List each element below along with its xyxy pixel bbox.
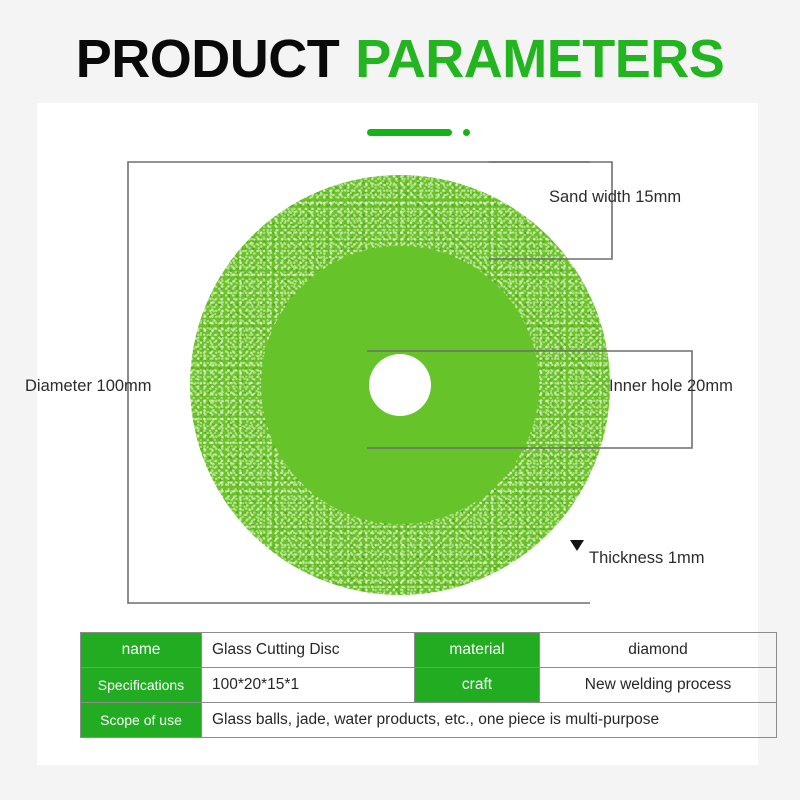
callout-inner-hole: Inner hole 20mm	[609, 377, 733, 396]
divider-bar-icon	[367, 129, 452, 136]
cell-craft-label: craft	[415, 668, 540, 703]
content-card: Sand width 15mm Inner hole 20mm Thicknes…	[37, 103, 758, 765]
table-row: Scope of use Glass balls, jade, water pr…	[81, 703, 777, 738]
page-title-primary: PRODUCT	[76, 32, 340, 86]
cell-scope-label: Scope of use	[81, 703, 202, 738]
cell-scope-value: Glass balls, jade, water products, etc.,…	[202, 703, 777, 738]
divider-dot-icon	[463, 129, 470, 136]
specification-table: name Glass Cutting Disc material diamond…	[80, 632, 777, 738]
table-row: Specifications 100*20*15*1 craft New wel…	[81, 668, 777, 703]
cell-name-label: name	[81, 633, 202, 668]
cell-craft-value: New welding process	[540, 668, 777, 703]
product-disc-illustration	[190, 175, 610, 595]
cell-specifications-label: Specifications	[81, 668, 202, 703]
cell-material-label: material	[415, 633, 540, 668]
cell-name-value: Glass Cutting Disc	[202, 633, 415, 668]
disc-inner-hole	[369, 354, 431, 416]
cell-material-value: diamond	[540, 633, 777, 668]
table-row: name Glass Cutting Disc material diamond	[81, 633, 777, 668]
callout-diameter: Diameter 100mm	[25, 377, 152, 396]
page-title: PRODUCT PARAMETERS	[0, 28, 800, 90]
cell-specifications-value: 100*20*15*1	[202, 668, 415, 703]
decorative-divider	[367, 126, 487, 138]
page-title-accent: PARAMETERS	[355, 32, 724, 86]
